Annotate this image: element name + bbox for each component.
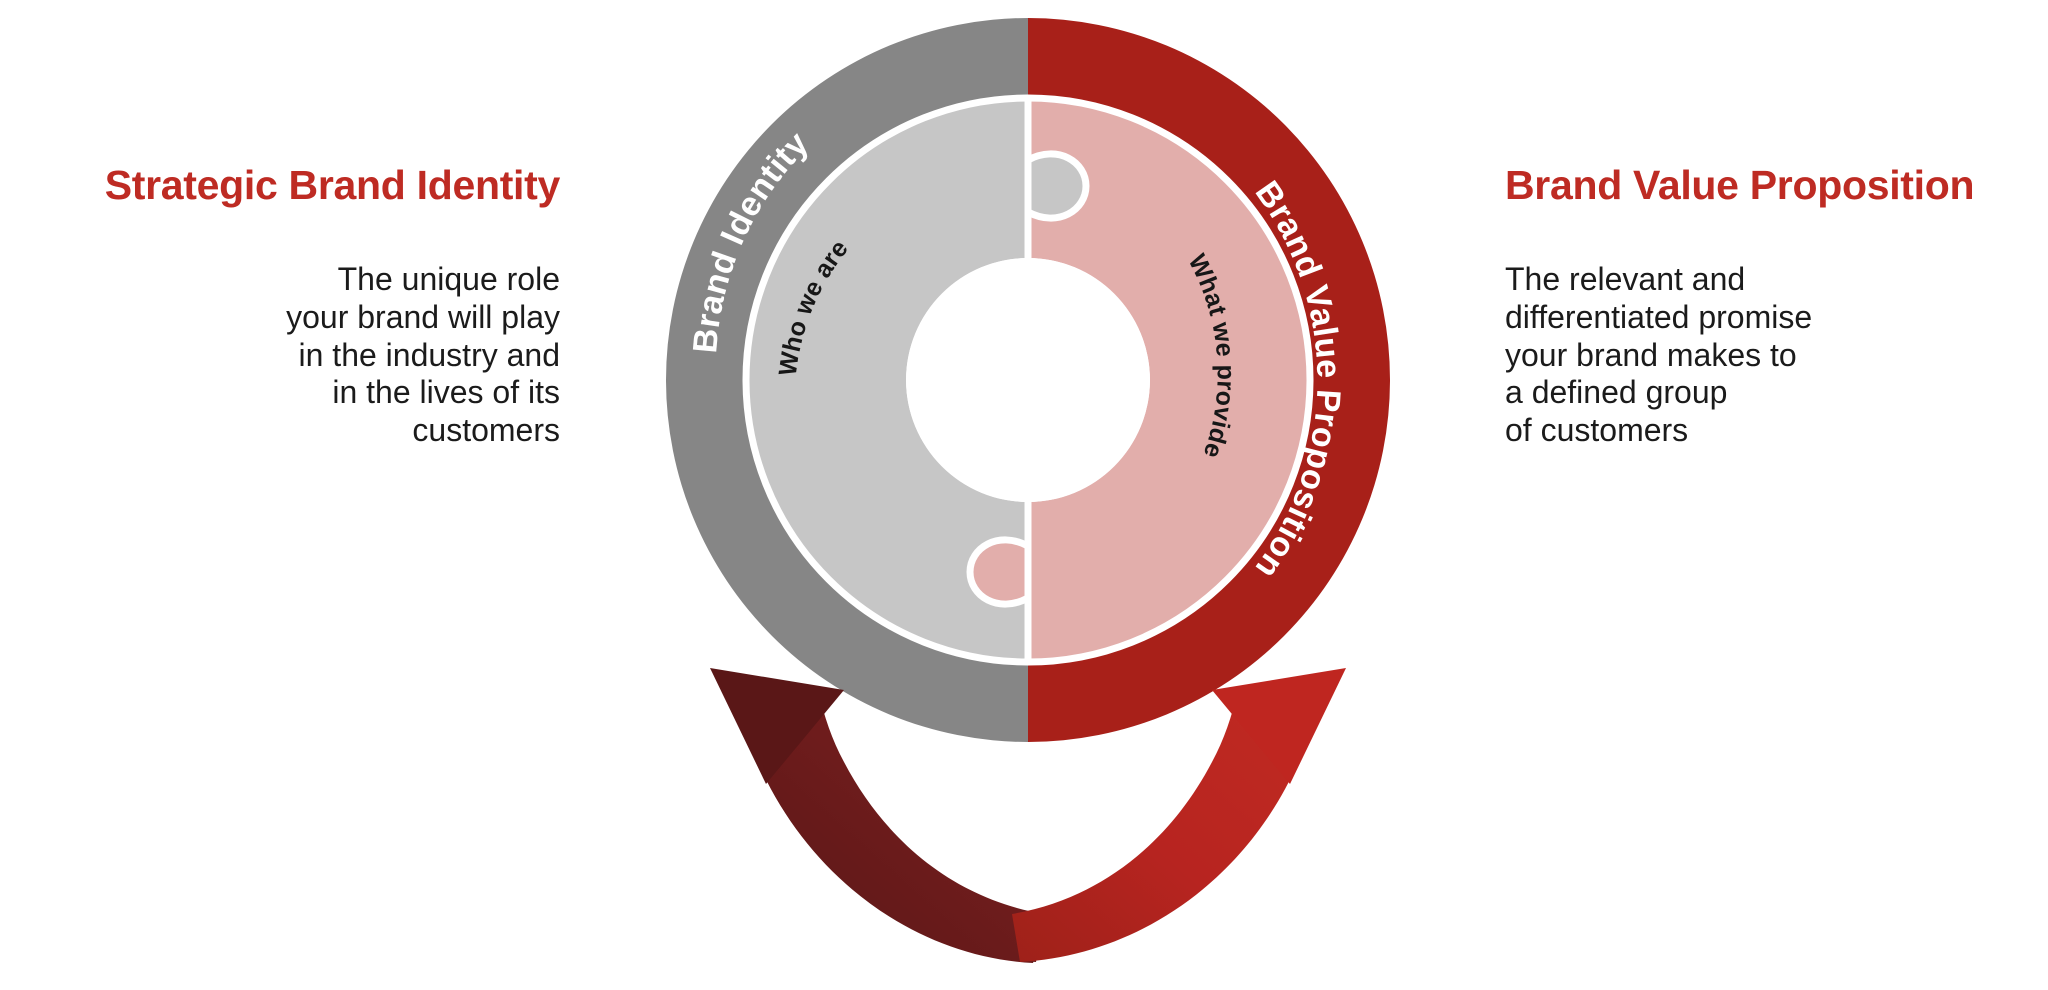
left-body-line-4: in the lives of its bbox=[0, 374, 560, 412]
puzzle-tab-top-overlay bbox=[1028, 154, 1086, 218]
left-panel-heading: Strategic Brand Identity bbox=[0, 165, 590, 206]
left-body-line-3: in the industry and bbox=[0, 337, 560, 375]
right-body-line-1: The relevant and bbox=[1505, 261, 2048, 299]
left-body-line-5: customers bbox=[0, 412, 560, 450]
center-hole bbox=[906, 258, 1150, 502]
puzzle-ring-diagram: Brand Identity Who we are Brand Value Pr… bbox=[648, 0, 1408, 990]
right-panel-heading: Brand Value Proposition bbox=[1505, 165, 2048, 206]
left-panel: Strategic Brand Identity The unique role… bbox=[0, 165, 590, 450]
right-panel-body: The relevant and differentiated promise … bbox=[1505, 261, 2048, 450]
right-panel: Brand Value Proposition The relevant and… bbox=[1505, 165, 2048, 450]
right-body-line-5: of customers bbox=[1505, 412, 2048, 450]
left-body-line-1: The unique role bbox=[0, 261, 560, 299]
right-body-line-3: your brand makes to bbox=[1505, 337, 2048, 375]
puzzle-tab-bottom bbox=[970, 540, 1028, 604]
left-body-line-2: your brand will play bbox=[0, 299, 560, 337]
right-body-line-4: a defined group bbox=[1505, 374, 2048, 412]
right-body-line-2: differentiated promise bbox=[1505, 299, 2048, 337]
diagram-canvas: Strategic Brand Identity The unique role… bbox=[0, 0, 2048, 990]
left-panel-body: The unique role your brand will play in … bbox=[0, 261, 590, 450]
